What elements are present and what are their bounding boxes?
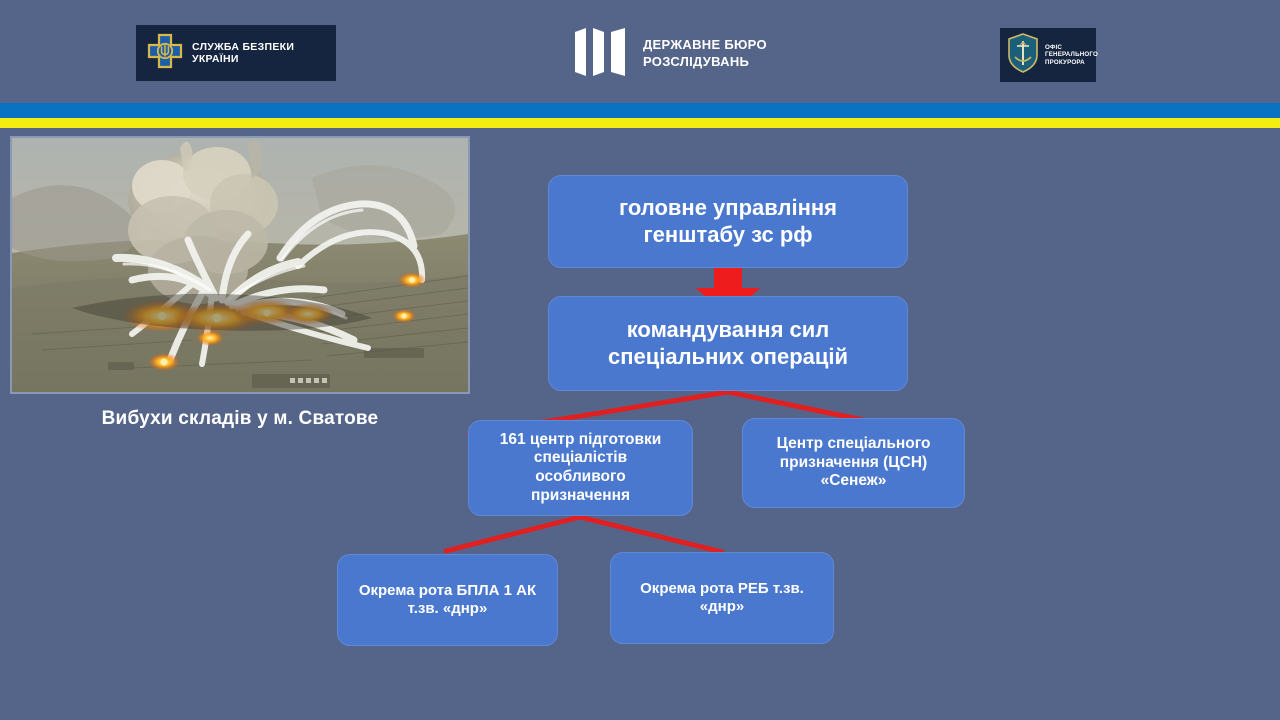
explosion-photo [10, 136, 470, 394]
org-node-tsn-senezh[interactable]: Центр спеціального призначення (ЦСН) «Се… [742, 418, 965, 508]
logo-dbr: ДЕРЖАВНЕ БЮРО РОЗСЛІДУВАНЬ [573, 26, 793, 82]
stripe-yellow [0, 118, 1280, 128]
prosecutor-shield-icon [1006, 32, 1040, 79]
dbr-pillars-icon [573, 26, 629, 83]
org-node-ew-company[interactable]: Окрема рота РЕБ т.зв. «днр» [610, 552, 834, 644]
logo-sbu-label: СЛУЖБА БЕЗПЕКИ УКРАЇНИ [192, 41, 336, 66]
logo-sbu: СЛУЖБА БЕЗПЕКИ УКРАЇНИ [136, 25, 336, 81]
org-node-special-operations-command[interactable]: командування сил спеціальних операцій [548, 296, 908, 391]
org-node-main-directorate[interactable]: головне управління генштабу зс рф [548, 175, 908, 268]
org-node-uav-company[interactable]: Окрема рота БПЛА 1 АК т.зв. «днр» [337, 554, 558, 646]
logo-ogp: ОФІС ГЕНЕРАЛЬНОГО ПРОКУРОРА [1000, 28, 1096, 82]
slide-canvas: СЛУЖБА БЕЗПЕКИ УКРАЇНИ ДЕРЖАВНЕ БЮРО РОЗ… [0, 0, 1280, 720]
org-node-161-training-center[interactable]: 161 центр підготовки спеціалістів особли… [468, 420, 693, 516]
logo-ogp-label: ОФІС ГЕНЕРАЛЬНОГО ПРОКУРОРА [1045, 44, 1098, 66]
photo-caption: Вибухи складів у м. Сватове [10, 408, 470, 430]
stripe-blue [0, 103, 1280, 118]
sbu-cross-emblem-icon [145, 31, 185, 76]
logo-dbr-label: ДЕРЖАВНЕ БЮРО РОЗСЛІДУВАНЬ [643, 37, 767, 71]
